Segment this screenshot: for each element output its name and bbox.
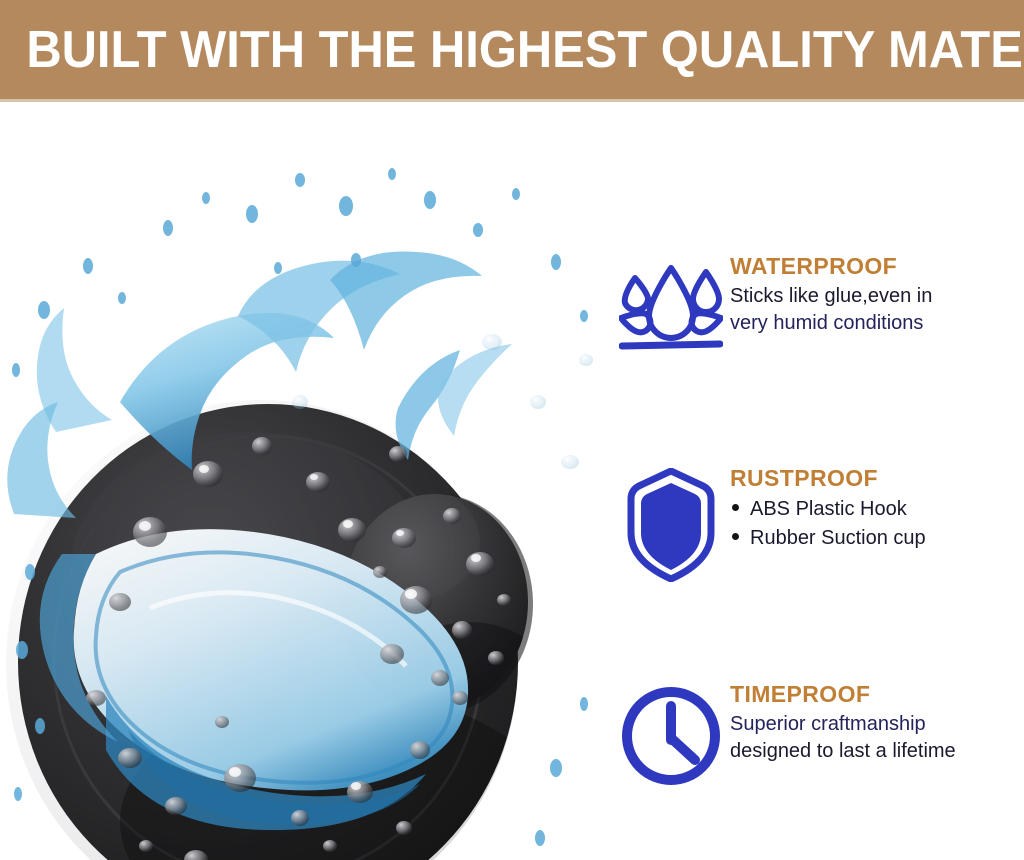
feature-description-line-2: very humid conditions xyxy=(730,310,932,336)
header-banner: BUILT WITH THE HIGHEST QUALITY MATERIALS xyxy=(0,0,1024,99)
feature-timeproof-body: TIMEPROOF Superior craftmanship designed… xyxy=(730,680,956,764)
clock-icon xyxy=(612,680,730,788)
feature-timeproof: TIMEPROOF Superior craftmanship designed… xyxy=(612,680,1024,788)
feature-title: TIMEPROOF xyxy=(730,682,956,707)
features-column: WATERPROOF Sticks like glue,even in very… xyxy=(612,102,1024,860)
shield-icon xyxy=(612,464,730,582)
water-droplets-icon xyxy=(612,252,730,352)
feature-title: RUSTPROOF xyxy=(730,466,926,491)
feature-description-line-1: Superior craftmanship xyxy=(730,711,956,737)
feature-waterproof: WATERPROOF Sticks like glue,even in very… xyxy=(612,252,1024,352)
product-photo xyxy=(0,102,612,860)
banner-title: BUILT WITH THE HIGHEST QUALITY MATERIALS xyxy=(0,24,1024,76)
product-illustration xyxy=(0,102,612,860)
feature-rustproof-body: RUSTPROOF ABS Plastic Hook Rubber Suctio… xyxy=(730,464,926,552)
feature-rustproof: RUSTPROOF ABS Plastic Hook Rubber Suctio… xyxy=(612,464,1024,582)
feature-title: WATERPROOF xyxy=(730,254,932,279)
feature-description: Sticks like glue,even in very humid cond… xyxy=(730,283,932,336)
feature-description: Superior craftmanship designed to last a… xyxy=(730,711,956,764)
feature-description-line-1: Sticks like glue,even in xyxy=(730,283,932,309)
feature-waterproof-body: WATERPROOF Sticks like glue,even in very… xyxy=(730,252,932,336)
feature-description-line-2: designed to last a lifetime xyxy=(730,738,956,764)
list-item: ABS Plastic Hook xyxy=(730,495,926,523)
list-item: Rubber Suction cup xyxy=(730,524,926,552)
feature-bullet-list: ABS Plastic Hook Rubber Suction cup xyxy=(730,495,926,552)
